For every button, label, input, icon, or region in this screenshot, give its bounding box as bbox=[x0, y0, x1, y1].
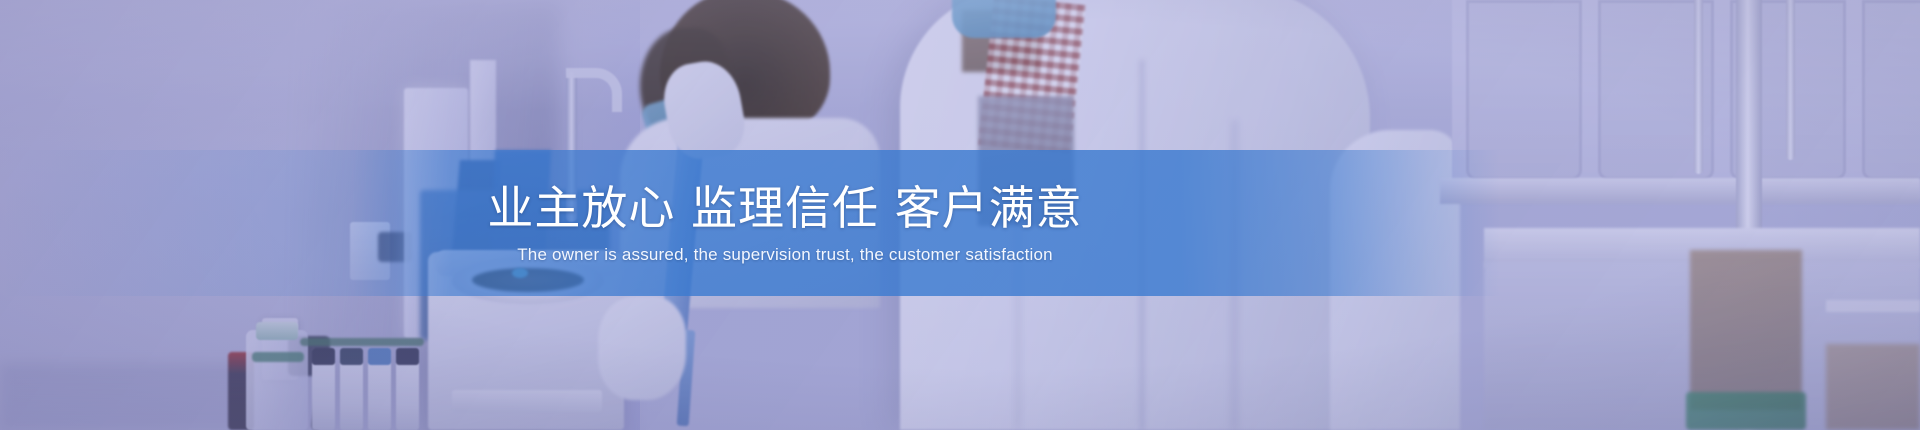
slogan-band-inner: 业主放心 监理信任 客户满意 The owner is assured, the… bbox=[0, 150, 1920, 296]
slogan-subline-en: The owner is assured, the supervision tr… bbox=[0, 245, 1745, 265]
slogan-text-block: 业主放心 监理信任 客户满意 The owner is assured, the… bbox=[0, 181, 1745, 264]
slogan-band: 业主放心 监理信任 客户满意 The owner is assured, the… bbox=[0, 150, 1920, 296]
hero-banner: 业主放心 监理信任 客户满意 The owner is assured, the… bbox=[0, 0, 1920, 430]
slogan-headline-zh: 业主放心 监理信任 客户满意 bbox=[0, 181, 1745, 235]
